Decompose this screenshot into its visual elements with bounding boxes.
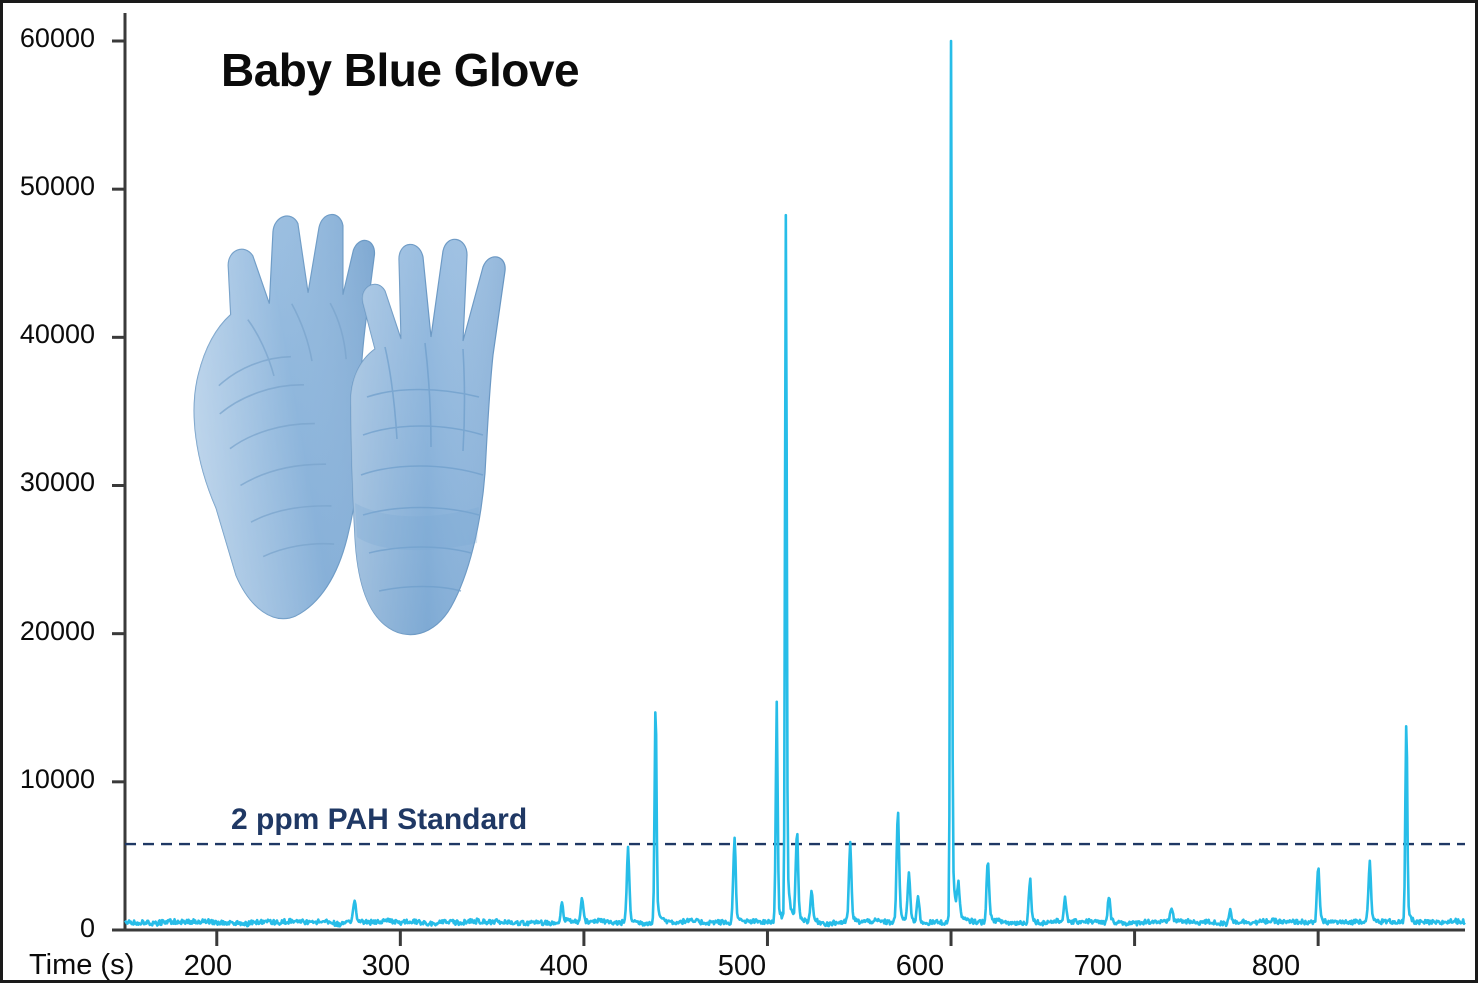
chromatogram-trace bbox=[125, 41, 1465, 926]
x-axis-ticks bbox=[217, 930, 1318, 946]
y-axis-ticks bbox=[112, 41, 125, 930]
chromatogram-figure: 60000 50000 40000 30000 20000 10000 0 20… bbox=[0, 0, 1478, 983]
chromatogram-plot bbox=[3, 3, 1478, 983]
